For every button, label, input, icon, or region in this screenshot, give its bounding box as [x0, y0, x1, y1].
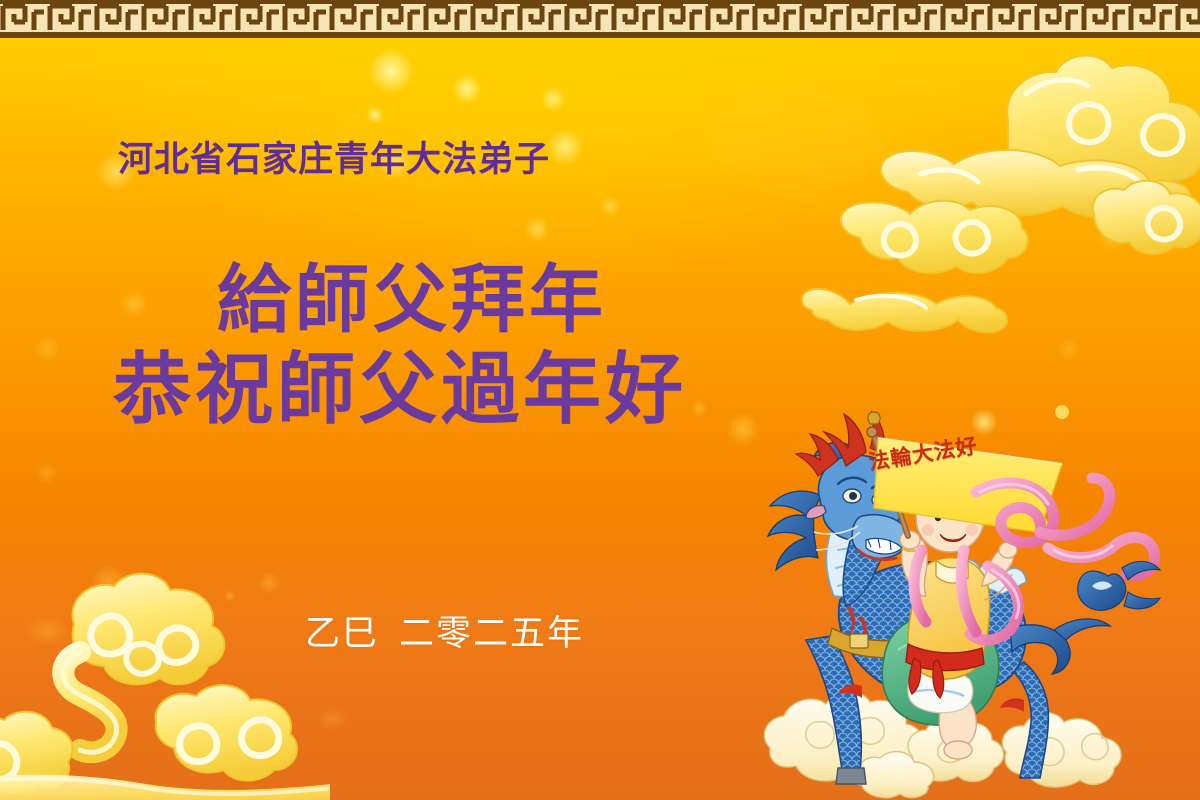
pink-ribbons	[914, 478, 1155, 640]
bokeh-light	[524, 216, 550, 242]
bokeh-light	[366, 106, 384, 124]
bokeh-light	[540, 86, 566, 112]
dragon-tail-tuft	[1078, 561, 1160, 610]
child-figure	[900, 461, 1017, 759]
bokeh-light	[600, 196, 620, 216]
bokeh-light	[1058, 338, 1080, 360]
greeting-block: 給師父拜年 恭祝師父過年好	[0, 262, 800, 432]
greeting-card: 河北省石家庄青年大法弟子 給師父拜年 恭祝師父過年好 乙巳二零二五年	[0, 0, 1200, 800]
bokeh-light	[452, 74, 482, 104]
bokeh-light	[368, 48, 414, 94]
illustration-base-clouds	[764, 692, 1121, 798]
greeting-line-2: 恭祝師父過年好	[0, 350, 800, 432]
bokeh-light	[1098, 222, 1128, 252]
pink-ribbons-highlight	[980, 484, 1112, 618]
child-riding-dragon-illustration	[762, 400, 1192, 800]
sender-line: 河北省石家庄青年大法弟子	[118, 140, 550, 180]
dragon-antlers	[796, 412, 884, 476]
auspicious-cloud-watermark	[692, 44, 952, 244]
bokeh-light	[92, 564, 126, 598]
greeting-line-1: 給師父拜年	[0, 262, 800, 340]
year-label: 二零二五年	[399, 614, 584, 654]
greek-key-border	[0, 0, 1200, 38]
bokeh-light	[318, 708, 348, 730]
bokeh-light	[36, 462, 58, 484]
bokeh-light	[546, 128, 584, 166]
date-line: 乙巳二零二五年	[305, 612, 584, 656]
dragon	[768, 412, 1110, 784]
banner-text: 法輪大法好	[847, 426, 1000, 479]
auspicious-cloud-top-right	[794, 42, 1200, 362]
bokeh-light	[258, 572, 280, 594]
auspicious-cloud-bottom-left	[0, 560, 330, 800]
zodiac-cycle-label: 乙巳	[305, 614, 379, 654]
bokeh-light	[224, 590, 236, 602]
bokeh-light	[970, 408, 998, 436]
bokeh-light	[24, 616, 70, 646]
